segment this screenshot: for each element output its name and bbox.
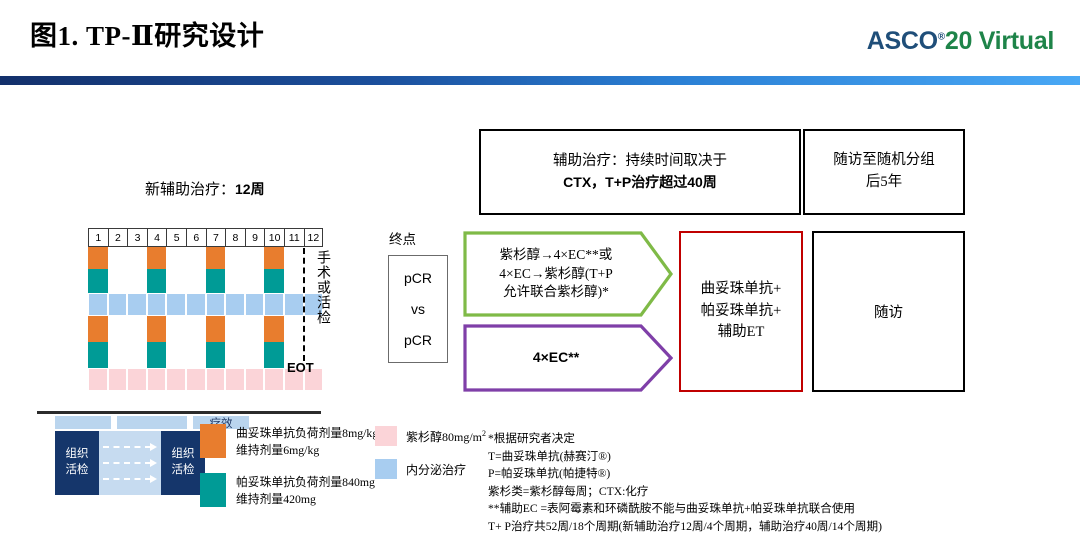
- pertuzumab-top-week-9: [245, 269, 265, 293]
- legend-item-paclitaxel: 紫杉醇80mg/m2: [375, 426, 486, 446]
- pertuzumab-bottom-week-1: [88, 342, 108, 368]
- trastuzumab-bottom-week-10: [264, 316, 284, 342]
- pertuzumab-top-week-5: [166, 269, 186, 293]
- trastuzumab-bottom-week-4: [147, 316, 167, 342]
- legend-trastuzumab-line-2: 维持剂量6mg/kg: [236, 442, 378, 459]
- paclitaxel-week-3: [127, 368, 147, 391]
- followup-duration-box: 随访至随机分组 后5年: [803, 129, 965, 215]
- footnote-line-1: *根据研究者决定: [488, 430, 882, 448]
- trastuzumab-bottom-week-8: [225, 316, 245, 342]
- green-arrow-shape: [463, 231, 673, 317]
- legend-item-endocrine: 内分泌治疗: [375, 459, 486, 479]
- adjuvant-line-1: 辅助治疗：持续时间取决于: [553, 151, 727, 172]
- paclitaxel-week-7: [206, 368, 226, 391]
- pertuzumab-top-week-1: [88, 269, 108, 293]
- week-number-row: 123456789101112: [88, 228, 323, 247]
- pertuzumab-top-week-7: [206, 269, 226, 293]
- endpoint-pcr-2: pCR: [404, 332, 432, 348]
- trastuzumab-top-week-1: [88, 247, 108, 269]
- pertuzumab-bottom-week-6: [186, 342, 206, 368]
- trastuzumab-bottom-week-6: [186, 316, 206, 342]
- endocrine-week-2: [108, 293, 128, 316]
- endpoint-box: pCR vs pCR: [388, 255, 448, 363]
- biopsy-1-line-2: 活检: [66, 463, 89, 479]
- week-cell-10: 10: [264, 228, 284, 247]
- trastuzumab-bottom-week-9: [245, 316, 265, 342]
- biopsy-2-line-2: 活检: [172, 463, 195, 479]
- paclitaxel-week-6: [186, 368, 206, 391]
- footnote-line-6: T+ P治疗共52周/18个周期(新辅助治疗12周/4个周期，辅助治疗40周/1…: [488, 518, 882, 536]
- biopsy-bar-middle: [117, 416, 187, 429]
- header-divider: [0, 76, 1080, 85]
- endpoint-vs: vs: [411, 301, 425, 317]
- footnote-line-5: **辅助EC =表阿霉素和环磷酰胺不能与曲妥珠单抗+帕妥珠单抗联合使用: [488, 500, 882, 518]
- paclitaxel-week-8: [225, 368, 245, 391]
- dashed-arrow-1: [103, 446, 157, 448]
- trastuzumab-top-week-4: [147, 247, 167, 269]
- week-cell-1: 1: [88, 228, 108, 247]
- legend-text-trastuzumab: 曲妥珠单抗负荷剂量8mg/kg 维持剂量6mg/kg: [236, 424, 378, 459]
- legend-pertuzumab-line-1: 帕妥珠单抗负荷剂量840mg: [236, 474, 375, 491]
- pertuzumab-top-week-4: [147, 269, 167, 293]
- asco-logo-asco: ASCO: [867, 27, 938, 55]
- legend-drugs: 曲妥珠单抗负荷剂量8mg/kg 维持剂量6mg/kg 帕妥珠单抗负荷剂量840m…: [200, 424, 378, 522]
- pertuzumab-bottom-week-7: [206, 342, 226, 368]
- asco-logo-virtual: Virtual: [979, 27, 1054, 55]
- dashed-arrow-3: [103, 478, 157, 480]
- week-cell-7: 7: [206, 228, 226, 247]
- trastuzumab-bottom-week-7: [206, 316, 226, 342]
- endocrine-week-1: [88, 293, 108, 316]
- endocrine-week-9: [245, 293, 265, 316]
- asco-logo-registered: ®: [938, 32, 945, 43]
- trastuzumab-top-week-6: [186, 247, 206, 269]
- pertuzumab-top-week-6: [186, 269, 206, 293]
- asco-logo: ASCO®20 Virtual: [867, 27, 1054, 56]
- biopsy-transition-arrows: [99, 431, 161, 495]
- legend-therapies: 紫杉醇80mg/m2 内分泌治疗: [375, 426, 486, 492]
- followup-line-1: 随访至随机分组: [833, 150, 935, 172]
- trastuzumab-top-week-3: [127, 247, 147, 269]
- pertuzumab-bottom-week-3: [127, 342, 147, 368]
- trastuzumab-top-week-2: [108, 247, 128, 269]
- pertuzumab-top-week-3: [127, 269, 147, 293]
- tissue-biopsy-box-2: 组织 活检: [161, 431, 205, 495]
- week-cell-5: 5: [166, 228, 186, 247]
- biopsy-divider: [37, 411, 321, 414]
- pertuzumab-top-week-8: [225, 269, 245, 293]
- neoadjuvant-label: 新辅助治疗：12周: [145, 178, 265, 199]
- treatment-line-3: 辅助ET: [701, 322, 782, 344]
- paclitaxel-week-9: [245, 368, 265, 391]
- week-cell-8: 8: [225, 228, 245, 247]
- endpoint-title: 终点: [389, 228, 416, 248]
- endocrine-week-5: [166, 293, 186, 316]
- biopsy-1-line-1: 组织: [66, 447, 89, 463]
- biopsy-bar-left: [55, 416, 111, 429]
- legend-swatch-teal: [200, 473, 226, 507]
- eot-dashed-line: [303, 248, 305, 361]
- treatment-line-1: 曲妥珠单抗+: [701, 279, 782, 301]
- legend-swatch-blue: [375, 459, 397, 479]
- legend-text-pertuzumab: 帕妥珠单抗负荷剂量840mg 维持剂量420mg: [236, 473, 375, 508]
- legend-trastuzumab-line-1: 曲妥珠单抗负荷剂量8mg/kg: [236, 425, 378, 442]
- legend-text-endocrine: 内分泌治疗: [406, 461, 466, 478]
- trastuzumab-top-week-7: [206, 247, 226, 269]
- trastuzumab-top-week-9: [245, 247, 265, 269]
- dashed-arrow-2: [103, 462, 157, 464]
- endpoint-pcr-1: pCR: [404, 270, 432, 286]
- purple-arrow-shape: [463, 324, 673, 392]
- biopsy-2-line-1: 组织: [172, 447, 195, 463]
- pertuzumab-top-week-10: [264, 269, 284, 293]
- treatment-arm-arrow-green: 紫杉醇→4×EC**或 4×EC→紫杉醇(T+P 允许联合紫杉醇)*: [463, 231, 673, 317]
- endocrine-week-10: [264, 293, 284, 316]
- adjuvant-therapy-box: 辅助治疗：持续时间取决于 CTX，T+P治疗超过40周: [479, 129, 801, 215]
- pertuzumab-bottom-week-10: [264, 342, 284, 368]
- trastuzumab-top-week-10: [264, 247, 284, 269]
- pertuzumab-band-top: [88, 269, 323, 293]
- neoadjuvant-label-text: 新辅助治疗：: [145, 182, 235, 198]
- trastuzumab-band-top: [88, 247, 323, 269]
- week-cell-12: 12: [304, 228, 324, 247]
- followup-line-2: 后5年: [833, 172, 935, 194]
- trastuzumab-bottom-week-1: [88, 316, 108, 342]
- endocrine-week-8: [225, 293, 245, 316]
- legend-paclitaxel-label: 紫杉醇80mg/m: [406, 430, 482, 444]
- paclitaxel-week-1: [88, 368, 108, 391]
- week-cell-3: 3: [127, 228, 147, 247]
- week-cell-9: 9: [245, 228, 265, 247]
- trastuzumab-bottom-week-5: [166, 316, 186, 342]
- endocrine-week-7: [206, 293, 226, 316]
- endocrine-week-3: [127, 293, 147, 316]
- eot-label: EOT: [287, 360, 314, 375]
- footnote-line-3: P=帕妥珠单抗(帕捷特®): [488, 465, 882, 483]
- adjuvant-line-2: CTX，T+P治疗超过40周: [553, 172, 727, 192]
- trastuzumab-band-bottom: [88, 316, 323, 342]
- footnote-line-2: T=曲妥珠单抗(赫赛汀®): [488, 448, 882, 466]
- pertuzumab-bottom-week-8: [225, 342, 245, 368]
- week-cell-11: 11: [284, 228, 304, 247]
- surgery-or-biopsy-label: 手术或活检: [312, 250, 332, 325]
- trastuzumab-top-week-5: [166, 247, 186, 269]
- tissue-biopsy-box-1: 组织 活检: [55, 431, 99, 495]
- neoadjuvant-label-value: 12周: [235, 181, 265, 197]
- treatment-line-2: 帕妥珠单抗+: [701, 301, 782, 323]
- legend-paclitaxel-sup: 2: [482, 429, 486, 438]
- endocrine-week-11: [284, 293, 304, 316]
- pertuzumab-top-week-11: [284, 269, 304, 293]
- endocrine-week-6: [186, 293, 206, 316]
- legend-swatch-orange: [200, 424, 226, 458]
- legend-item-trastuzumab: 曲妥珠单抗负荷剂量8mg/kg 维持剂量6mg/kg: [200, 424, 378, 459]
- pertuzumab-bottom-week-4: [147, 342, 167, 368]
- trastuzumab-bottom-week-11: [284, 316, 304, 342]
- week-cell-4: 4: [147, 228, 167, 247]
- footnotes: *根据研究者决定 T=曲妥珠单抗(赫赛汀®) P=帕妥珠单抗(帕捷特®) 紫杉类…: [488, 430, 882, 536]
- pertuzumab-bottom-week-9: [245, 342, 265, 368]
- followup-box: 随访: [812, 231, 965, 392]
- pertuzumab-bottom-week-2: [108, 342, 128, 368]
- page-title: 图1. TP-Ⅱ研究设计: [30, 14, 264, 53]
- paclitaxel-week-2: [108, 368, 128, 391]
- legend-pertuzumab-line-2: 维持剂量420mg: [236, 491, 375, 508]
- adjuvant-treatment-box: 曲妥珠单抗+ 帕妥珠单抗+ 辅助ET: [679, 231, 803, 392]
- week-cell-2: 2: [108, 228, 128, 247]
- asco-logo-year: 20: [945, 27, 972, 55]
- legend-swatch-pink: [375, 426, 397, 446]
- paclitaxel-week-10: [264, 368, 284, 391]
- footnote-line-4: 紫杉类=紫杉醇每周；CTX:化疗: [488, 483, 882, 501]
- treatment-arm-arrow-purple: 4×EC**: [463, 324, 673, 392]
- endocrine-week-4: [147, 293, 167, 316]
- endocrine-band: [88, 293, 323, 316]
- trastuzumab-bottom-week-3: [127, 316, 147, 342]
- trastuzumab-bottom-week-2: [108, 316, 128, 342]
- week-cell-6: 6: [186, 228, 206, 247]
- pertuzumab-bottom-week-5: [166, 342, 186, 368]
- pertuzumab-top-week-2: [108, 269, 128, 293]
- paclitaxel-week-4: [147, 368, 167, 391]
- paclitaxel-week-5: [166, 368, 186, 391]
- legend-item-pertuzumab: 帕妥珠单抗负荷剂量840mg 维持剂量420mg: [200, 473, 378, 508]
- trastuzumab-top-week-8: [225, 247, 245, 269]
- trastuzumab-top-week-11: [284, 247, 304, 269]
- legend-text-paclitaxel: 紫杉醇80mg/m2: [406, 428, 486, 445]
